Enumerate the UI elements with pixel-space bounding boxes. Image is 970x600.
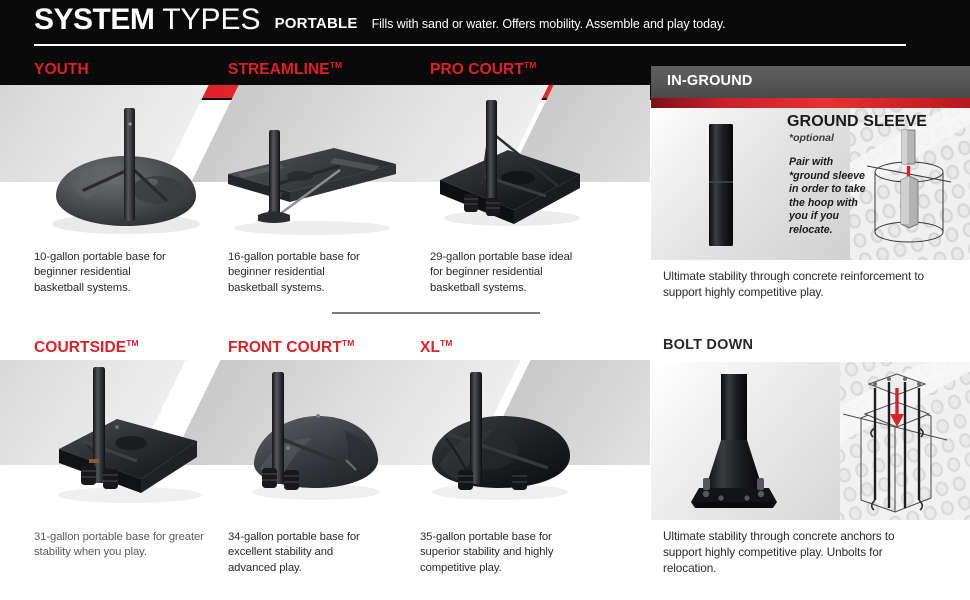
caption-youth: 10-gallon portable base for beginner res… [34, 250, 182, 296]
trademark-mark: TM [330, 60, 342, 70]
caption-xl: 35-gallon portable base for superior sta… [420, 530, 568, 576]
category-label-streamline: STREAMLINETM [228, 60, 342, 79]
boltdown-pole-image [691, 374, 777, 512]
xl-portable-base-image [420, 372, 580, 504]
caption-front-court: 34-gallon portable base for excellent st… [228, 530, 376, 576]
sleeve-top-piece [902, 130, 915, 164]
title-light: TYPES [162, 3, 260, 36]
category-label-text: XL [420, 339, 440, 356]
courtside-portable-base-image [45, 367, 210, 507]
trademark-mark: TM [440, 338, 452, 348]
boltdown-anchor-diagram [835, 370, 955, 516]
category-label-text: STREAMLINE [228, 61, 330, 78]
category-label-pro-court: PRO COURTTM [430, 60, 536, 79]
sleeve-in-ground-piece [901, 176, 918, 228]
system-types-infographic: SYSTEM TYPES PORTABLE Fills with sand or… [0, 0, 970, 600]
youth-portable-base-image [40, 108, 210, 238]
ground-sleeve-body: Pair with *ground sleeve in order to tak… [789, 156, 875, 238]
front-court-portable-base-image [240, 372, 390, 504]
title-subtitle: Fills with sand or water. Offers mobilit… [372, 17, 726, 31]
page-title: SYSTEM TYPES PORTABLE Fills with sand or… [34, 5, 725, 35]
inground-pole-image [705, 124, 737, 246]
trademark-mark: TM [342, 338, 354, 348]
title-underline-rule [34, 44, 906, 46]
streamline-portable-base-image [222, 130, 402, 238]
caption-inground: Ultimate stability through concrete rein… [663, 268, 943, 300]
trademark-mark: TM [126, 338, 138, 348]
category-label-text: COURTSIDE [34, 339, 126, 356]
title-kicker: PORTABLE [275, 15, 358, 32]
title-text: SYSTEM TYPES [34, 5, 261, 35]
caption-pro-court: 29-gallon portable base ideal for beginn… [430, 250, 582, 296]
pro-court-portable-base-image [430, 100, 590, 230]
category-label-text: YOUTH [34, 61, 89, 78]
inground-section-header: IN-GROUND [651, 66, 970, 98]
caption-courtside: 31-gallon portable base for greater stab… [34, 530, 204, 561]
boltdown-section-label: BOLT DOWN [663, 337, 753, 353]
caption-streamline: 16-gallon portable base for beginner res… [228, 250, 376, 296]
category-label-text: PRO COURT [430, 61, 524, 78]
caption-boltdown: Ultimate stability through concrete anch… [663, 528, 913, 576]
category-label-xl: XLTM [420, 338, 453, 357]
category-label-text: FRONT COURT [228, 339, 342, 356]
inground-red-accent-bar [651, 98, 970, 108]
title-bold: SYSTEM [34, 3, 154, 36]
ground-sleeve-title: GROUND SLEEVE [787, 113, 927, 131]
boltdown-illustration-panel [651, 362, 970, 520]
section-divider-rule [332, 312, 540, 314]
category-label-youth: YOUTH [34, 60, 89, 79]
ground-sleeve-optional: *optional [789, 132, 834, 144]
trademark-mark: TM [524, 60, 536, 70]
inground-section-label: IN-GROUND [667, 73, 753, 89]
inground-illustration-panel: GROUND SLEEVE *optional Pair with *groun… [651, 108, 970, 260]
category-label-front-court: FRONT COURTTM [228, 338, 354, 357]
category-label-courtside: COURTSIDETM [34, 338, 139, 357]
